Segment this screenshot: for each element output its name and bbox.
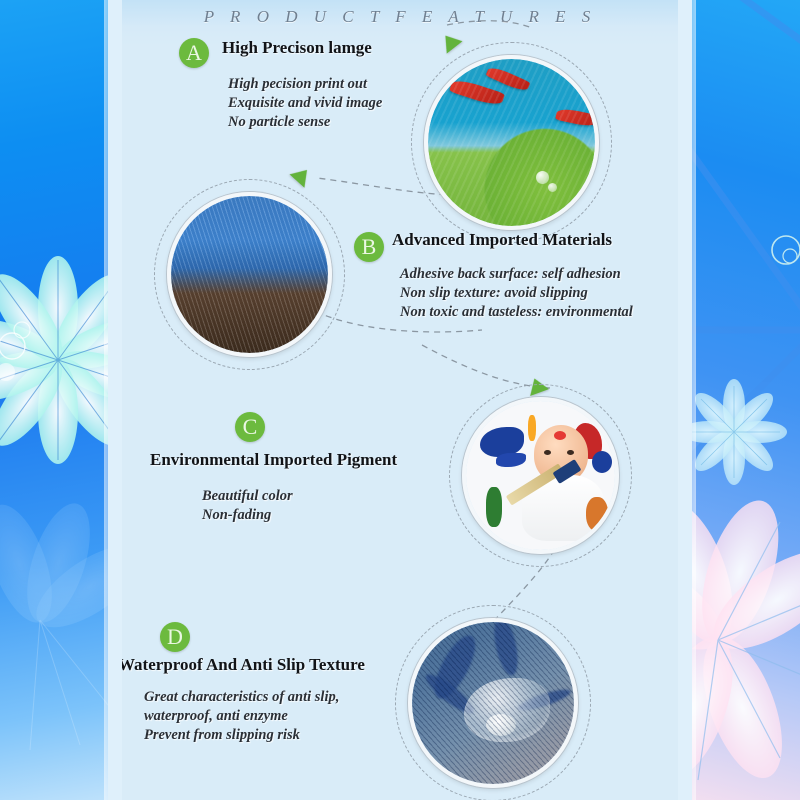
feature-badge-b: B: [354, 232, 384, 262]
paint-splatter-yellow: [528, 415, 536, 441]
photo-d-frame: [408, 618, 578, 788]
bullet-d-1: Great characteristics of anti slip,: [144, 688, 339, 707]
marble-vein-4: [516, 686, 573, 715]
photo-d-image: [412, 622, 574, 784]
water-bead-2: [548, 183, 557, 192]
bullet-b-1: Adhesive back surface: self adhesion: [400, 265, 633, 284]
paint-splatter-green: [486, 487, 502, 527]
marble-vein-1: [427, 630, 483, 704]
right-gutter: [678, 0, 692, 800]
water-bead-1: [536, 171, 549, 184]
baby-eye-right: [567, 450, 574, 455]
right-decorative-band: [678, 0, 800, 800]
feature-heading-a: High Precison lamge: [222, 38, 372, 58]
feature-heading-b: Advanced Imported Materials: [392, 230, 612, 250]
photo-c-frame: [462, 397, 619, 554]
droplet-highlight: [486, 714, 516, 736]
feature-bullets-a: High pecision print out Exquisite and vi…: [228, 75, 382, 132]
bullet-a-3: No particle sense: [228, 113, 382, 132]
bullet-a-2: Exquisite and vivid image: [228, 94, 382, 113]
feature-bullets-c: Beautiful color Non-fading: [202, 487, 293, 525]
left-gutter: [108, 0, 122, 800]
koi-fish-3: [555, 107, 595, 128]
koi-fish-2: [485, 65, 530, 94]
paint-splatter-blue-3: [592, 451, 612, 473]
feature-photo-b: [167, 192, 332, 357]
photo-c-image: [466, 401, 615, 550]
feature-badge-c: C: [235, 412, 265, 442]
photo-a-frame: [424, 55, 599, 230]
bullet-a-1: High pecision print out: [228, 75, 382, 94]
left-decorative-band: [0, 0, 122, 800]
baby-arm-paint: [586, 497, 608, 531]
marble-vein-3: [421, 669, 478, 719]
paint-dab-forehead: [554, 431, 566, 440]
photo-a-image: [428, 59, 595, 226]
baby-eye-left: [544, 450, 551, 455]
bullet-c-1: Beautiful color: [202, 487, 293, 506]
water-droplet: [464, 678, 550, 742]
bullet-c-2: Non-fading: [202, 506, 293, 525]
paint-splatter-blue-2: [496, 453, 526, 467]
bullet-b-2: Non slip texture: avoid slipping: [400, 284, 633, 303]
bullet-d-3: Prevent from slipping risk: [144, 726, 339, 745]
right-band-flower-pattern: [678, 0, 800, 800]
product-features-infographic: P R O D U C T F E A T U R E S A High: [0, 0, 800, 800]
feature-photo-c: [462, 397, 619, 554]
page-title: P R O D U C T F E A T U R E S: [122, 7, 678, 27]
feature-photo-a: [424, 55, 599, 230]
feature-heading-d: Waterproof And Anti Slip Texture: [122, 655, 365, 675]
feature-badge-a: A: [179, 38, 209, 68]
photo-b-frame: [167, 192, 332, 357]
marble-vein-2: [490, 622, 522, 677]
feature-photo-d: [408, 618, 578, 788]
bullet-b-3: Non toxic and tasteless: environmental: [400, 303, 633, 322]
arrow-marker-b: [290, 163, 315, 188]
feature-bullets-b: Adhesive back surface: self adhesion Non…: [400, 265, 633, 322]
photo-b-image: [171, 196, 328, 353]
feature-bullets-d: Great characteristics of anti slip, wate…: [144, 688, 339, 745]
koi-fish-1: [449, 77, 505, 108]
feature-badge-d: D: [160, 622, 190, 652]
feature-heading-c: Environmental Imported Pigment: [150, 450, 397, 470]
content-panel: P R O D U C T F E A T U R E S A High: [122, 0, 678, 800]
bullet-d-2: waterproof, anti enzyme: [144, 707, 339, 726]
